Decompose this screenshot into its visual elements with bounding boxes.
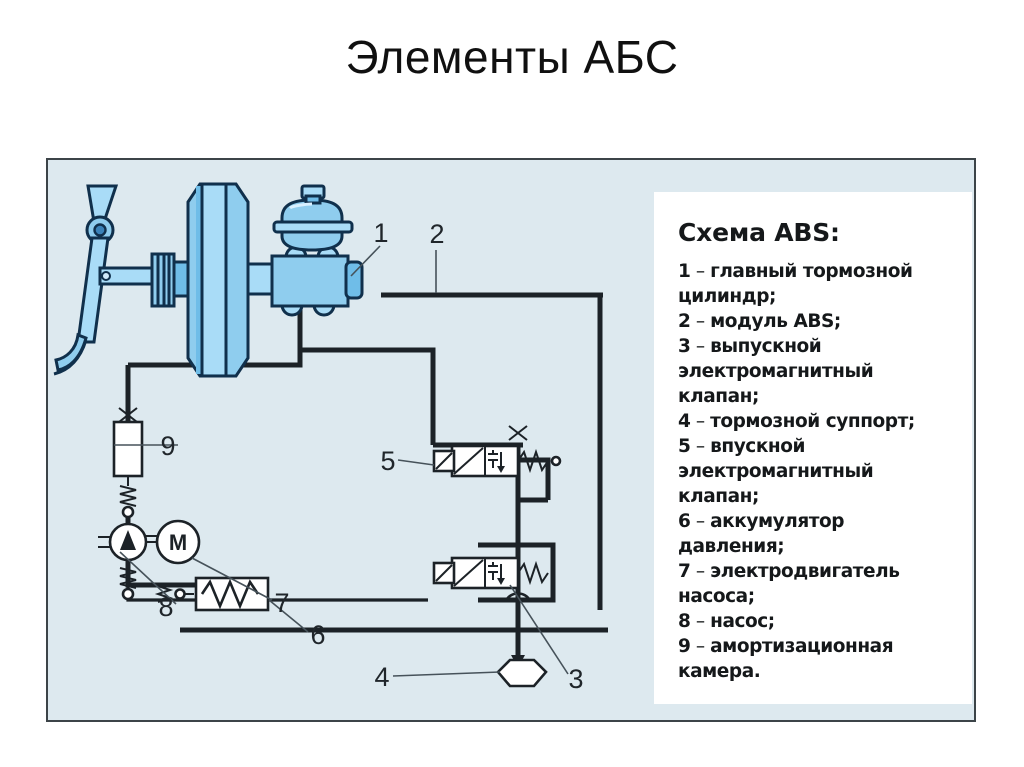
legend-item-8: 8 – насос; — [678, 609, 952, 634]
legend-panel: Схема ABS: 1 – главный тормозной цилиндр… — [654, 192, 972, 704]
legend-item-8-dash: – — [690, 611, 710, 632]
legend-item-6-dash: – — [690, 511, 710, 532]
legend-item-4-text: тормозной суппорт; — [710, 411, 915, 432]
legend-item-3-num: 3 — [678, 336, 690, 357]
legend-item-3-dash: – — [690, 336, 710, 357]
legend-item-2-text: модуль ABS; — [710, 311, 841, 332]
callout-8: 8 — [158, 592, 173, 622]
legend-item-9-dash: – — [690, 636, 710, 657]
callout-4: 4 — [374, 662, 389, 692]
inlet-solenoid-valve — [434, 426, 560, 476]
brake-pedal-assembly — [54, 186, 152, 374]
legend-item-9-text: амортизационная камера. — [678, 636, 893, 682]
legend-item-1-num: 1 — [678, 261, 690, 282]
legend-item-9: 9 – амортизационная камера. — [678, 634, 952, 684]
legend-title: Схема ABS: — [678, 218, 952, 247]
legend-item-7: 7 – электродвигатель насоса; — [678, 559, 952, 609]
legend-item-2: 2 – модуль ABS; — [678, 309, 952, 334]
legend-item-9-num: 9 — [678, 636, 690, 657]
slide-root: Элементы АБС — [0, 0, 1024, 767]
legend-item-7-dash: – — [690, 561, 710, 582]
legend-item-8-num: 8 — [678, 611, 690, 632]
legend-item-8-text: насос; — [710, 611, 775, 632]
master-brake-cylinder — [272, 186, 362, 315]
callout-6: 6 — [310, 620, 325, 650]
legend-item-6-num: 6 — [678, 511, 690, 532]
callout-7: 7 — [274, 588, 289, 618]
legend-item-2-dash: – — [690, 311, 710, 332]
legend-item-1-dash: – — [690, 261, 710, 282]
vacuum-booster — [152, 184, 274, 376]
callout-2: 2 — [429, 219, 444, 249]
legend-item-1-text: главный тормозной цилиндр; — [678, 261, 913, 307]
motor-glyph: M — [169, 530, 187, 555]
legend-list: 1 – главный тормозной цилиндр; 2 – модул… — [678, 259, 952, 684]
legend-item-4: 4 – тормозной суппорт; — [678, 409, 952, 434]
legend-item-2-num: 2 — [678, 311, 690, 332]
legend-item-5-num: 5 — [678, 436, 690, 457]
callout-9: 9 — [160, 431, 175, 461]
legend-item-1: 1 – главный тормозной цилиндр; — [678, 259, 952, 309]
callout-3: 3 — [568, 664, 583, 694]
legend-item-3: 3 – выпускной электромагнитный клапан; — [678, 334, 952, 409]
callout-1: 1 — [373, 218, 388, 248]
legend-item-7-num: 7 — [678, 561, 690, 582]
callout-5: 5 — [380, 446, 395, 476]
pump-assembly: M — [98, 476, 199, 599]
legend-item-6: 6 – аккумулятор давления; — [678, 509, 952, 559]
legend-item-5: 5 – впускной электромагнитный клапан; — [678, 434, 952, 509]
legend-item-5-dash: – — [690, 436, 710, 457]
outlet-solenoid-valve — [434, 558, 548, 588]
figure-frame: M — [46, 158, 976, 722]
legend-item-7-text: электродвигатель насоса; — [678, 561, 899, 607]
legend-item-4-num: 4 — [678, 411, 690, 432]
legend-item-4-dash: – — [690, 411, 710, 432]
page-title: Элементы АБС — [0, 30, 1024, 84]
brake-caliper — [498, 655, 546, 686]
